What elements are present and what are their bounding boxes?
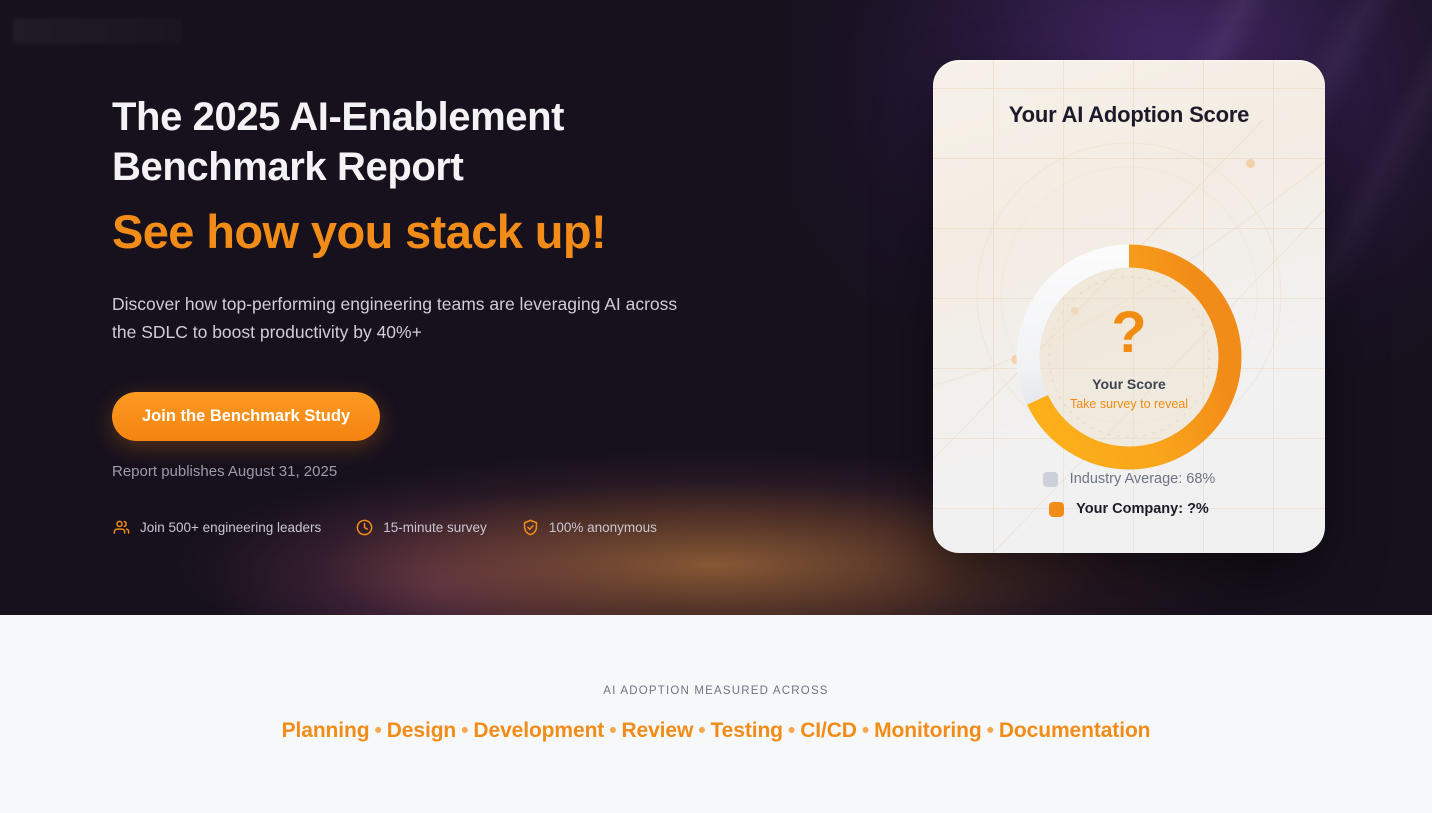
card-title: Your AI Adoption Score	[933, 102, 1325, 128]
stage-separator: •	[461, 719, 468, 742]
publish-date-note: Report publishes August 31, 2025	[112, 463, 752, 480]
stage-separator: •	[788, 719, 795, 742]
badge-label: 100% anonymous	[549, 520, 657, 535]
adoption-score-gauge: ? Your Score Take survey to reveal	[1004, 232, 1254, 482]
hero-copy-block: The 2025 AI-Enablement Benchmark Report …	[112, 92, 752, 537]
ai-adoption-score-card: Your AI Adoption Score	[933, 60, 1325, 553]
sdlc-stage: CI/CD	[800, 719, 857, 742]
legend-item-your-company: Your Company: ?%	[1049, 501, 1209, 517]
headline-accent: See how you stack up!	[112, 202, 752, 262]
badge-label: 15-minute survey	[383, 520, 487, 535]
accent-dot	[1246, 159, 1255, 168]
badge-anonymity: 100% anonymous	[521, 518, 657, 537]
legend-label: Your Company: ?%	[1076, 501, 1209, 517]
badge-label: Join 500+ engineering leaders	[140, 520, 321, 535]
badge-survey-duration: 15-minute survey	[355, 518, 487, 537]
hero-subcopy: Discover how top-performing engineering …	[112, 290, 702, 346]
hero-section: The 2025 AI-Enablement Benchmark Report …	[0, 0, 1432, 615]
legend-swatch-grey	[1043, 472, 1058, 487]
headline-line-2: Benchmark Report	[112, 145, 463, 189]
badge-engineering-leaders: Join 500+ engineering leaders	[112, 518, 321, 537]
gauge-svg	[1004, 232, 1254, 482]
stage-separator: •	[609, 719, 616, 742]
sdlc-coverage-strip: AI ADOPTION MEASURED ACROSS Planning•Des…	[0, 615, 1432, 813]
trust-badges: Join 500+ engineering leaders 15-minute …	[112, 518, 752, 537]
page-title: The 2025 AI-Enablement Benchmark Report …	[112, 92, 752, 262]
shield-check-icon	[521, 518, 540, 537]
stage-separator: •	[862, 719, 869, 742]
stage-separator: •	[698, 719, 705, 742]
strip-eyebrow: AI ADOPTION MEASURED ACROSS	[603, 685, 828, 697]
sdlc-stage: Planning	[282, 719, 370, 742]
sdlc-stage: Development	[473, 719, 604, 742]
sdlc-stage: Design	[387, 719, 456, 742]
legend-label: Industry Average: 68%	[1070, 471, 1216, 487]
join-benchmark-study-button[interactable]: Join the Benchmark Study	[112, 392, 380, 441]
sdlc-stage: Testing	[711, 719, 783, 742]
legend-swatch-orange	[1049, 502, 1064, 517]
sdlc-stage: Review	[621, 719, 693, 742]
users-icon	[112, 518, 131, 537]
legend-item-industry-average: Industry Average: 68%	[1043, 471, 1216, 487]
clock-icon	[355, 518, 374, 537]
headline-line-1: The 2025 AI-Enablement	[112, 95, 564, 139]
sdlc-stage-list: Planning•Design•Development•Review•Testi…	[282, 719, 1151, 743]
stage-separator: •	[374, 719, 381, 742]
sdlc-stage: Monitoring	[874, 719, 981, 742]
stage-separator: •	[987, 719, 994, 742]
brand-logo[interactable]	[12, 18, 182, 44]
sdlc-stage: Documentation	[999, 719, 1151, 742]
gauge-legend: Industry Average: 68% Your Company: ?%	[933, 471, 1325, 517]
